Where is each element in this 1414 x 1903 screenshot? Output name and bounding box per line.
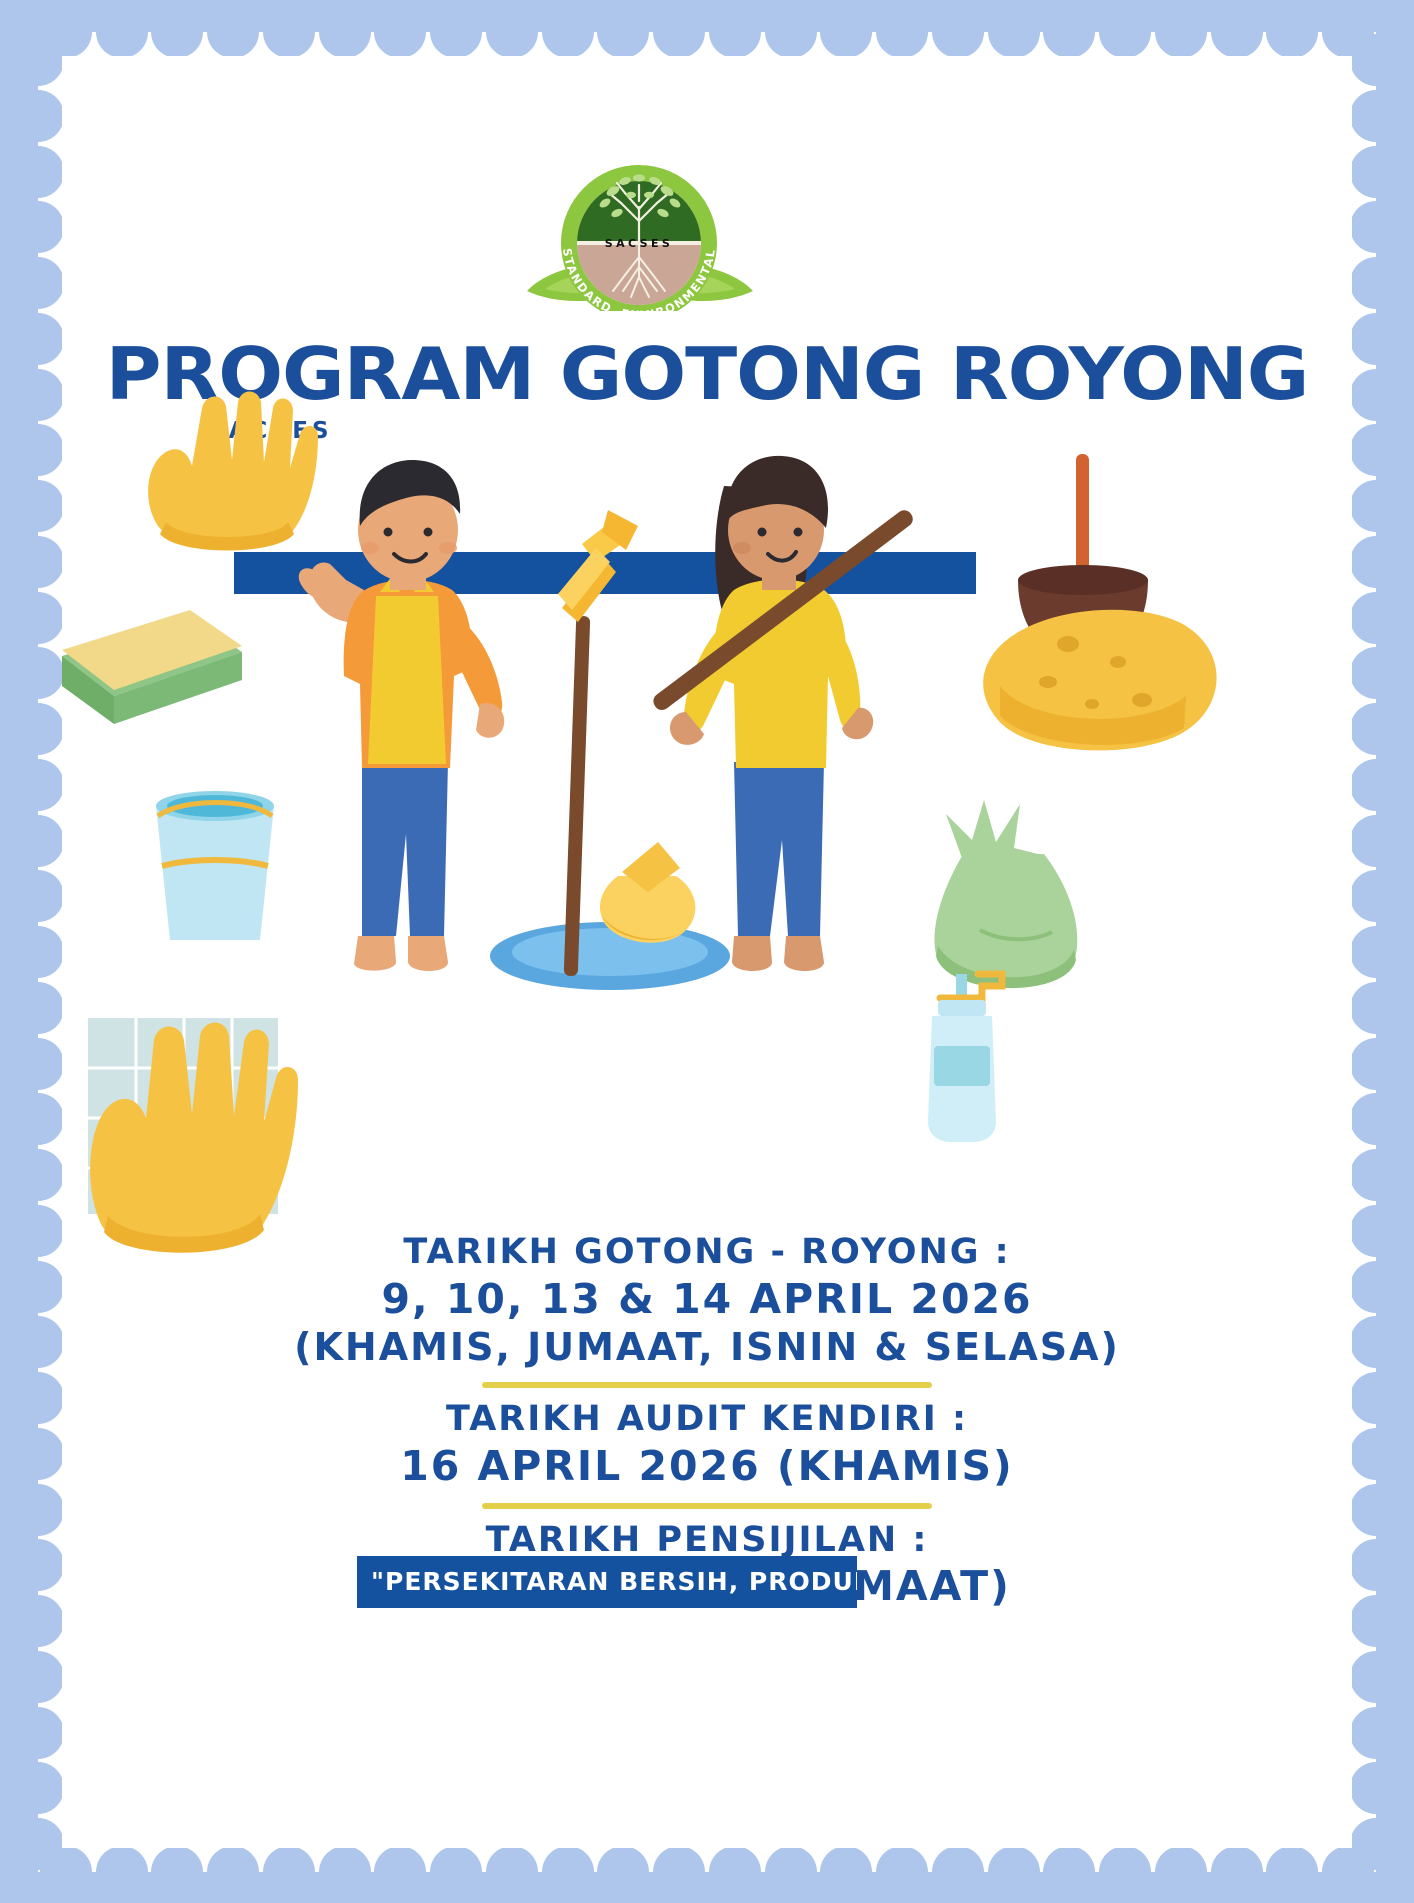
stamp-notch — [1350, 1093, 1402, 1145]
boy-with-broom — [299, 460, 638, 976]
label-gotong-royong: TARIKH GOTONG - ROYONG : — [62, 1231, 1352, 1274]
stamp-notch — [1350, 1428, 1402, 1480]
stamp-notch — [1350, 1205, 1402, 1257]
yellow-glove-tile-bottom-left — [88, 1018, 298, 1253]
stamp-notch — [932, 6, 984, 58]
stamp-notch — [597, 6, 649, 58]
yellow-glove-top-left — [148, 392, 318, 551]
stamp-notch — [207, 6, 259, 58]
stamp-notch — [932, 1846, 984, 1898]
stamp-notch — [12, 536, 64, 588]
tagline-text: "PERSEKITARAN BERSIH, PRODUKTIVITI MENIN… — [357, 1556, 857, 1596]
stamp-notch — [151, 1846, 203, 1898]
stamp-notch — [988, 1846, 1040, 1898]
stamp-notch — [1350, 815, 1402, 867]
stamp-notch — [319, 1846, 371, 1898]
stamp-notch — [263, 6, 315, 58]
stamp-notch — [1350, 1539, 1402, 1591]
stamp-notch — [709, 6, 761, 58]
stamp-notch — [12, 1484, 64, 1536]
stamp-notch — [1350, 146, 1402, 198]
stamp-notch — [1350, 34, 1402, 86]
stamp-notch — [12, 592, 64, 644]
stamp-notch — [765, 6, 817, 58]
stamp-notch — [12, 982, 64, 1034]
stamp-notch — [12, 1707, 64, 1759]
stamp-notch — [1350, 536, 1402, 588]
poster-canvas: SARAWAK CIVIL SERVICE STANDARD ENVIRONME… — [0, 0, 1414, 1903]
stamp-notch — [1043, 1846, 1095, 1898]
value-gotong-royong-date: 9, 10, 13 & 14 APRIL 2026 — [62, 1274, 1352, 1324]
stamp-notch — [765, 1846, 817, 1898]
stamp-notch — [709, 1846, 761, 1898]
stamp-notch — [12, 870, 64, 922]
green-sponge-left — [62, 610, 242, 724]
stamp-notch — [12, 313, 64, 365]
stamp-notch — [319, 6, 371, 58]
stamp-notch — [1211, 1846, 1263, 1898]
stamp-notch — [820, 1846, 872, 1898]
stamp-notch — [1350, 703, 1402, 755]
stamp-notch — [12, 257, 64, 309]
stamp-notch — [12, 201, 64, 253]
stamp-notch — [1350, 424, 1402, 476]
divider-2 — [482, 1503, 932, 1509]
stamp-notch — [876, 6, 928, 58]
stamp-notch — [1155, 6, 1207, 58]
blue-bucket-left — [156, 791, 274, 940]
stamp-notch — [1350, 1484, 1402, 1536]
tagline-banner: "PERSEKITARAN BERSIH, PRODUKTIVITI MENIN… — [357, 1556, 857, 1608]
value-gotong-royong-days: (KHAMIS, JUMAAT, ISNIN & SELASA) — [62, 1324, 1352, 1370]
stamp-notch — [12, 1539, 64, 1591]
stamp-notch — [12, 815, 64, 867]
stamp-notch — [653, 1846, 705, 1898]
label-audit-kendiri: TARIKH AUDIT KENDIRI : — [62, 1398, 1352, 1441]
stamp-notch — [1350, 1261, 1402, 1313]
stamp-notch — [1350, 257, 1402, 309]
stamp-notch — [12, 1205, 64, 1257]
stamp-notch — [542, 6, 594, 58]
stamp-notch — [653, 6, 705, 58]
stamp-notch — [12, 1093, 64, 1145]
stamp-notch — [430, 6, 482, 58]
stamp-notch — [1350, 592, 1402, 644]
stamp-notch — [1350, 369, 1402, 421]
stamp-notch — [542, 1846, 594, 1898]
stamp-notch — [1350, 313, 1402, 365]
stamp-notch — [1350, 926, 1402, 978]
stamp-notch — [12, 1038, 64, 1090]
stamp-notch — [1099, 1846, 1151, 1898]
stamp-notch — [12, 90, 64, 142]
stamp-notch — [12, 34, 64, 86]
orange-sponge-right — [983, 610, 1216, 751]
stamp-notch — [12, 703, 64, 755]
stamp-notch — [1350, 90, 1402, 142]
stamp-notch — [1350, 1707, 1402, 1759]
stamp-notch — [486, 6, 538, 58]
stamp-notch — [12, 1595, 64, 1647]
stamp-notch — [1350, 1372, 1402, 1424]
stamp-notch — [12, 1818, 64, 1870]
stamp-notch — [988, 6, 1040, 58]
trash-bag-right — [934, 800, 1077, 988]
stamp-notch — [263, 1846, 315, 1898]
stamp-notch — [1266, 6, 1318, 58]
stamp-notch — [1155, 1846, 1207, 1898]
stamp-notch — [597, 1846, 649, 1898]
stamp-notch — [1211, 6, 1263, 58]
info-block: TARIKH GOTONG - ROYONG : 9, 10, 13 & 14 … — [62, 1231, 1352, 1611]
divider-1 — [482, 1382, 932, 1388]
stamp-notch — [1350, 1595, 1402, 1647]
stamp-notch — [820, 6, 872, 58]
stamp-notch — [12, 1261, 64, 1313]
stamp-notch — [12, 480, 64, 532]
stamp-notch — [12, 1651, 64, 1703]
stamp-notch — [12, 424, 64, 476]
stamp-notch — [12, 926, 64, 978]
stamp-notch — [374, 6, 426, 58]
stamp-notch — [1099, 6, 1151, 58]
stamp-notch — [430, 1846, 482, 1898]
stamp-notch — [12, 759, 64, 811]
girl-with-mop — [600, 456, 916, 971]
value-audit-date: 16 APRIL 2026 (KHAMIS) — [62, 1441, 1352, 1491]
stamp-notch — [1350, 201, 1402, 253]
stamp-notch — [1350, 982, 1402, 1034]
stamp-notch — [1350, 759, 1402, 811]
stamp-notch — [12, 1372, 64, 1424]
stamp-notch — [1350, 1651, 1402, 1703]
stamp-notch — [1350, 1316, 1402, 1368]
poster-sheet: SARAWAK CIVIL SERVICE STANDARD ENVIRONME… — [62, 56, 1352, 1848]
stamp-notch — [12, 647, 64, 699]
stamp-notch — [1350, 870, 1402, 922]
stamp-notch — [1043, 6, 1095, 58]
stamp-notch — [1350, 480, 1402, 532]
stamp-notch — [1350, 1038, 1402, 1090]
stamp-notch — [374, 1846, 426, 1898]
stamp-notch — [12, 1149, 64, 1201]
stamp-notch — [876, 1846, 928, 1898]
stamp-notch — [207, 1846, 259, 1898]
stamp-notch — [1350, 1149, 1402, 1201]
stamp-notch — [1350, 1762, 1402, 1814]
stamp-notch — [1350, 647, 1402, 699]
stamp-notch — [12, 146, 64, 198]
stamp-notch — [12, 1428, 64, 1480]
stamp-notch — [12, 1316, 64, 1368]
stamp-notch — [1350, 1818, 1402, 1870]
stamp-notch — [96, 6, 148, 58]
soap-bottle-right — [928, 974, 1002, 1142]
stamp-notch — [1266, 1846, 1318, 1898]
stamp-notch — [12, 369, 64, 421]
stamp-notch — [12, 1762, 64, 1814]
stamp-notch — [151, 6, 203, 58]
stamp-notch — [96, 1846, 148, 1898]
stamp-notch — [486, 1846, 538, 1898]
